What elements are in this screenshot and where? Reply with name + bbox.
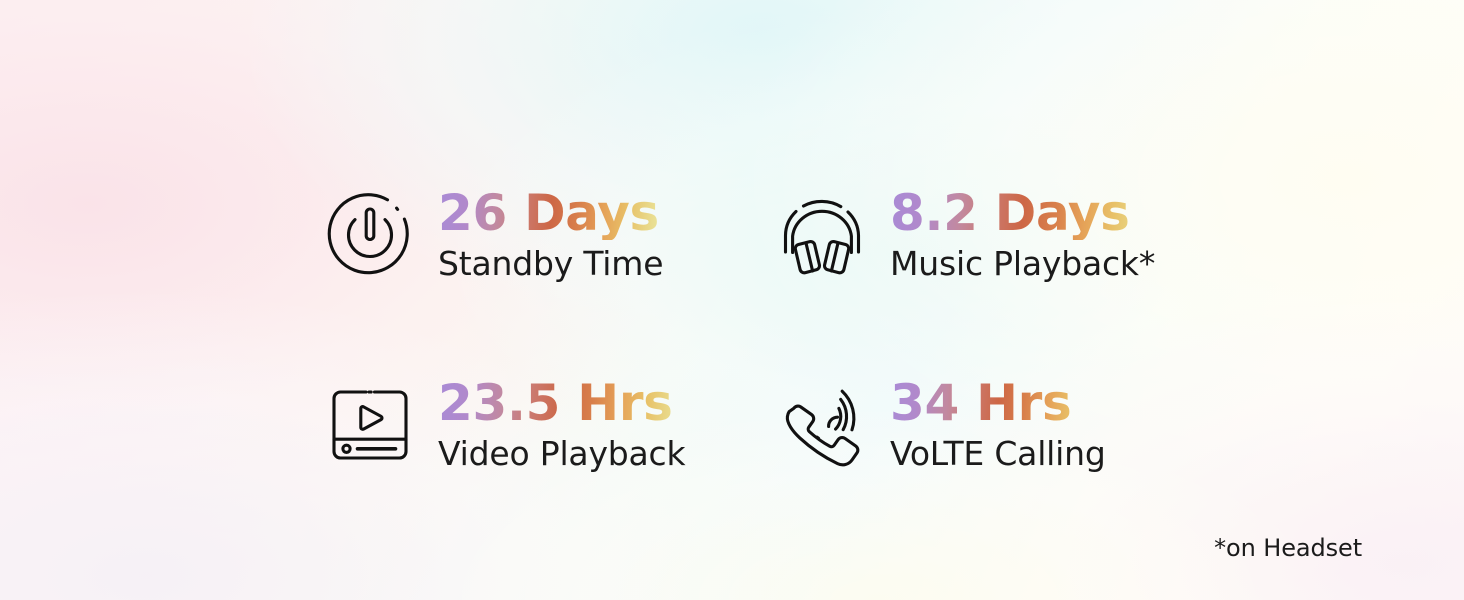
- stat-cell-standby-time: 26 Days Standby Time: [318, 140, 770, 330]
- headphones-icon: [770, 183, 874, 287]
- stat-text-video-playback: 23.5 Hrs Video Playback: [438, 377, 685, 473]
- phone-call-icon: [770, 373, 874, 477]
- stat-value: 34 Hrs: [890, 377, 1106, 430]
- stat-label: Music Playback*: [890, 246, 1155, 283]
- stat-cell-volte-calling: 34 Hrs VoLTE Calling: [770, 330, 1218, 520]
- stat-cell-music-playback: 8.2 Days Music Playback*: [770, 140, 1218, 330]
- stat-text-music-playback: 8.2 Days Music Playback*: [890, 187, 1155, 283]
- stats-grid: 26 Days Standby Time: [318, 140, 1218, 520]
- video-player-icon: [318, 373, 422, 477]
- stat-label: Standby Time: [438, 246, 663, 283]
- stat-value: 8.2 Days: [890, 187, 1155, 240]
- stat-label: VoLTE Calling: [890, 436, 1106, 473]
- stat-value: 26 Days: [438, 187, 663, 240]
- stat-text-standby-time: 26 Days Standby Time: [438, 187, 663, 283]
- stat-value: 23.5 Hrs: [438, 377, 685, 430]
- stat-text-volte-calling: 34 Hrs VoLTE Calling: [890, 377, 1106, 473]
- stat-cell-video-playback: 23.5 Hrs Video Playback: [318, 330, 770, 520]
- battery-specs-poster: 26 Days Standby Time: [0, 0, 1464, 600]
- stat-label: Video Playback: [438, 436, 685, 473]
- footnote: *on Headset: [1214, 534, 1362, 562]
- power-icon: [318, 183, 422, 287]
